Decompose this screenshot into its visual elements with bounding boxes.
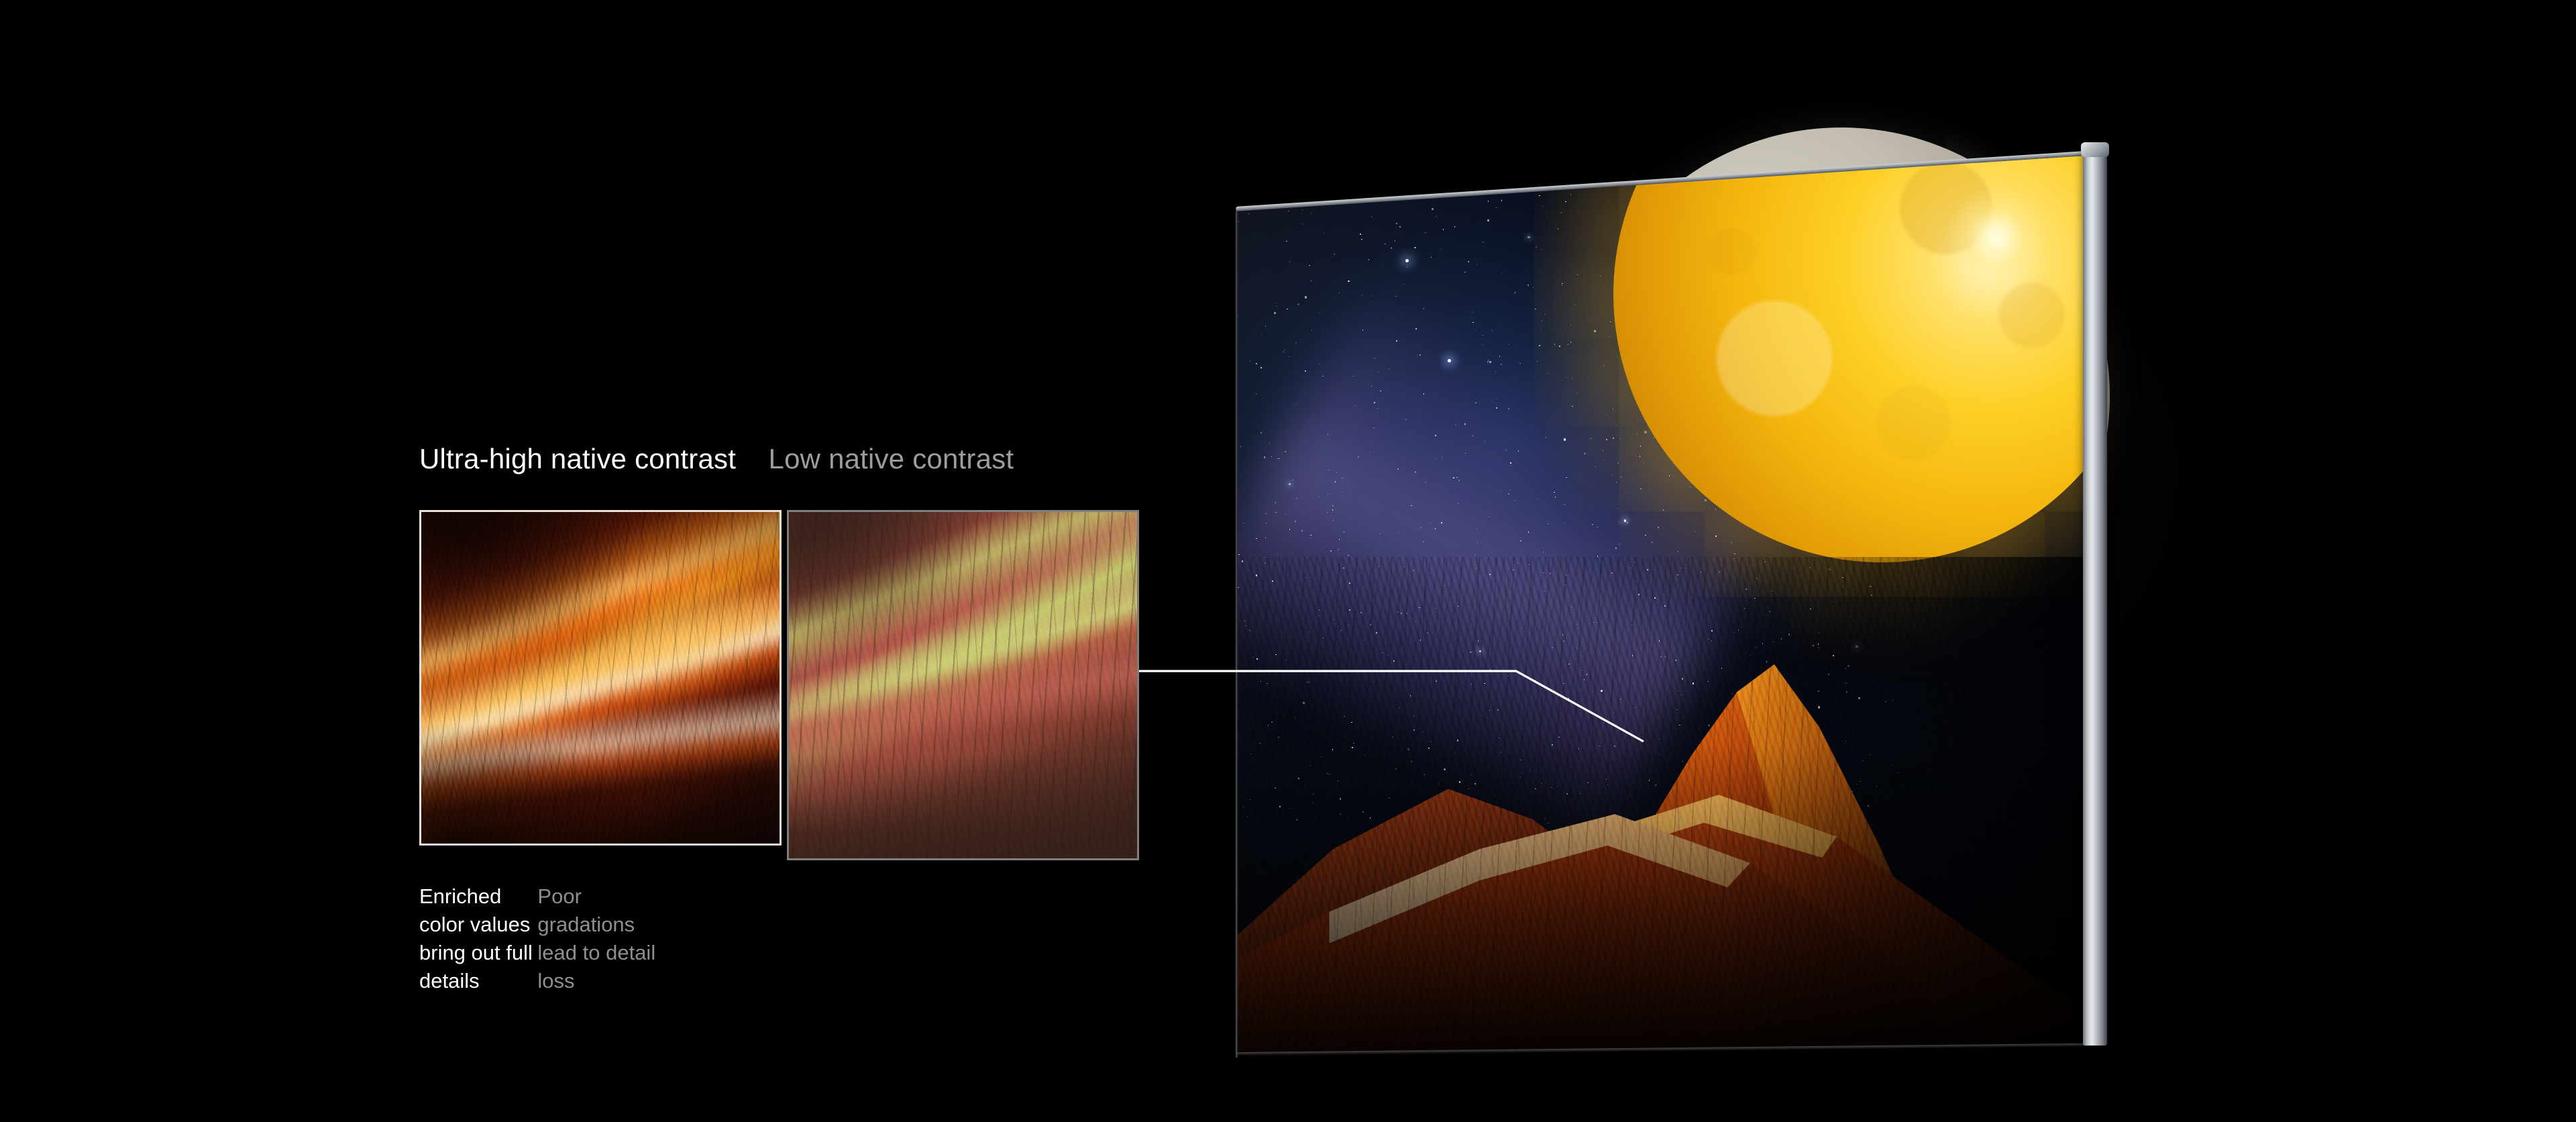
bezel-top-right-corner: [2081, 142, 2109, 157]
title-low-contrast: Low native contrast: [769, 443, 1014, 475]
image-crop-good: [421, 512, 780, 844]
caption-ultra-high-contrast: Enriched color values bring out full det…: [419, 882, 537, 994]
tv-device: [1234, 127, 2133, 1067]
screen-gloss: [1234, 127, 2133, 1067]
comparison-captions: Enriched color values bring out full det…: [419, 882, 665, 994]
tv-screen: [1234, 127, 2133, 1067]
bad-flat-wash: [789, 512, 1137, 858]
good-contrast-overlay: [421, 512, 780, 844]
comparison-panels: [419, 510, 1139, 860]
caption-low-contrast: Poor gradations lead to detail loss: [537, 882, 665, 994]
panel-low-contrast: [787, 510, 1139, 860]
tv-drop-shadow: [1248, 1055, 2113, 1122]
title-ultra-high-contrast: Ultra-high native contrast: [419, 443, 736, 475]
panel-ultra-high-contrast: [419, 510, 782, 846]
image-crop-bad: [789, 512, 1137, 858]
comparison-titles: Ultra-high native contrast Low native co…: [419, 443, 1014, 475]
scene-root: Ultra-high native contrast Low native co…: [0, 0, 2576, 1122]
bezel-right-edge: [2083, 146, 2107, 1045]
bezel-left-edge: [1236, 211, 1238, 1058]
